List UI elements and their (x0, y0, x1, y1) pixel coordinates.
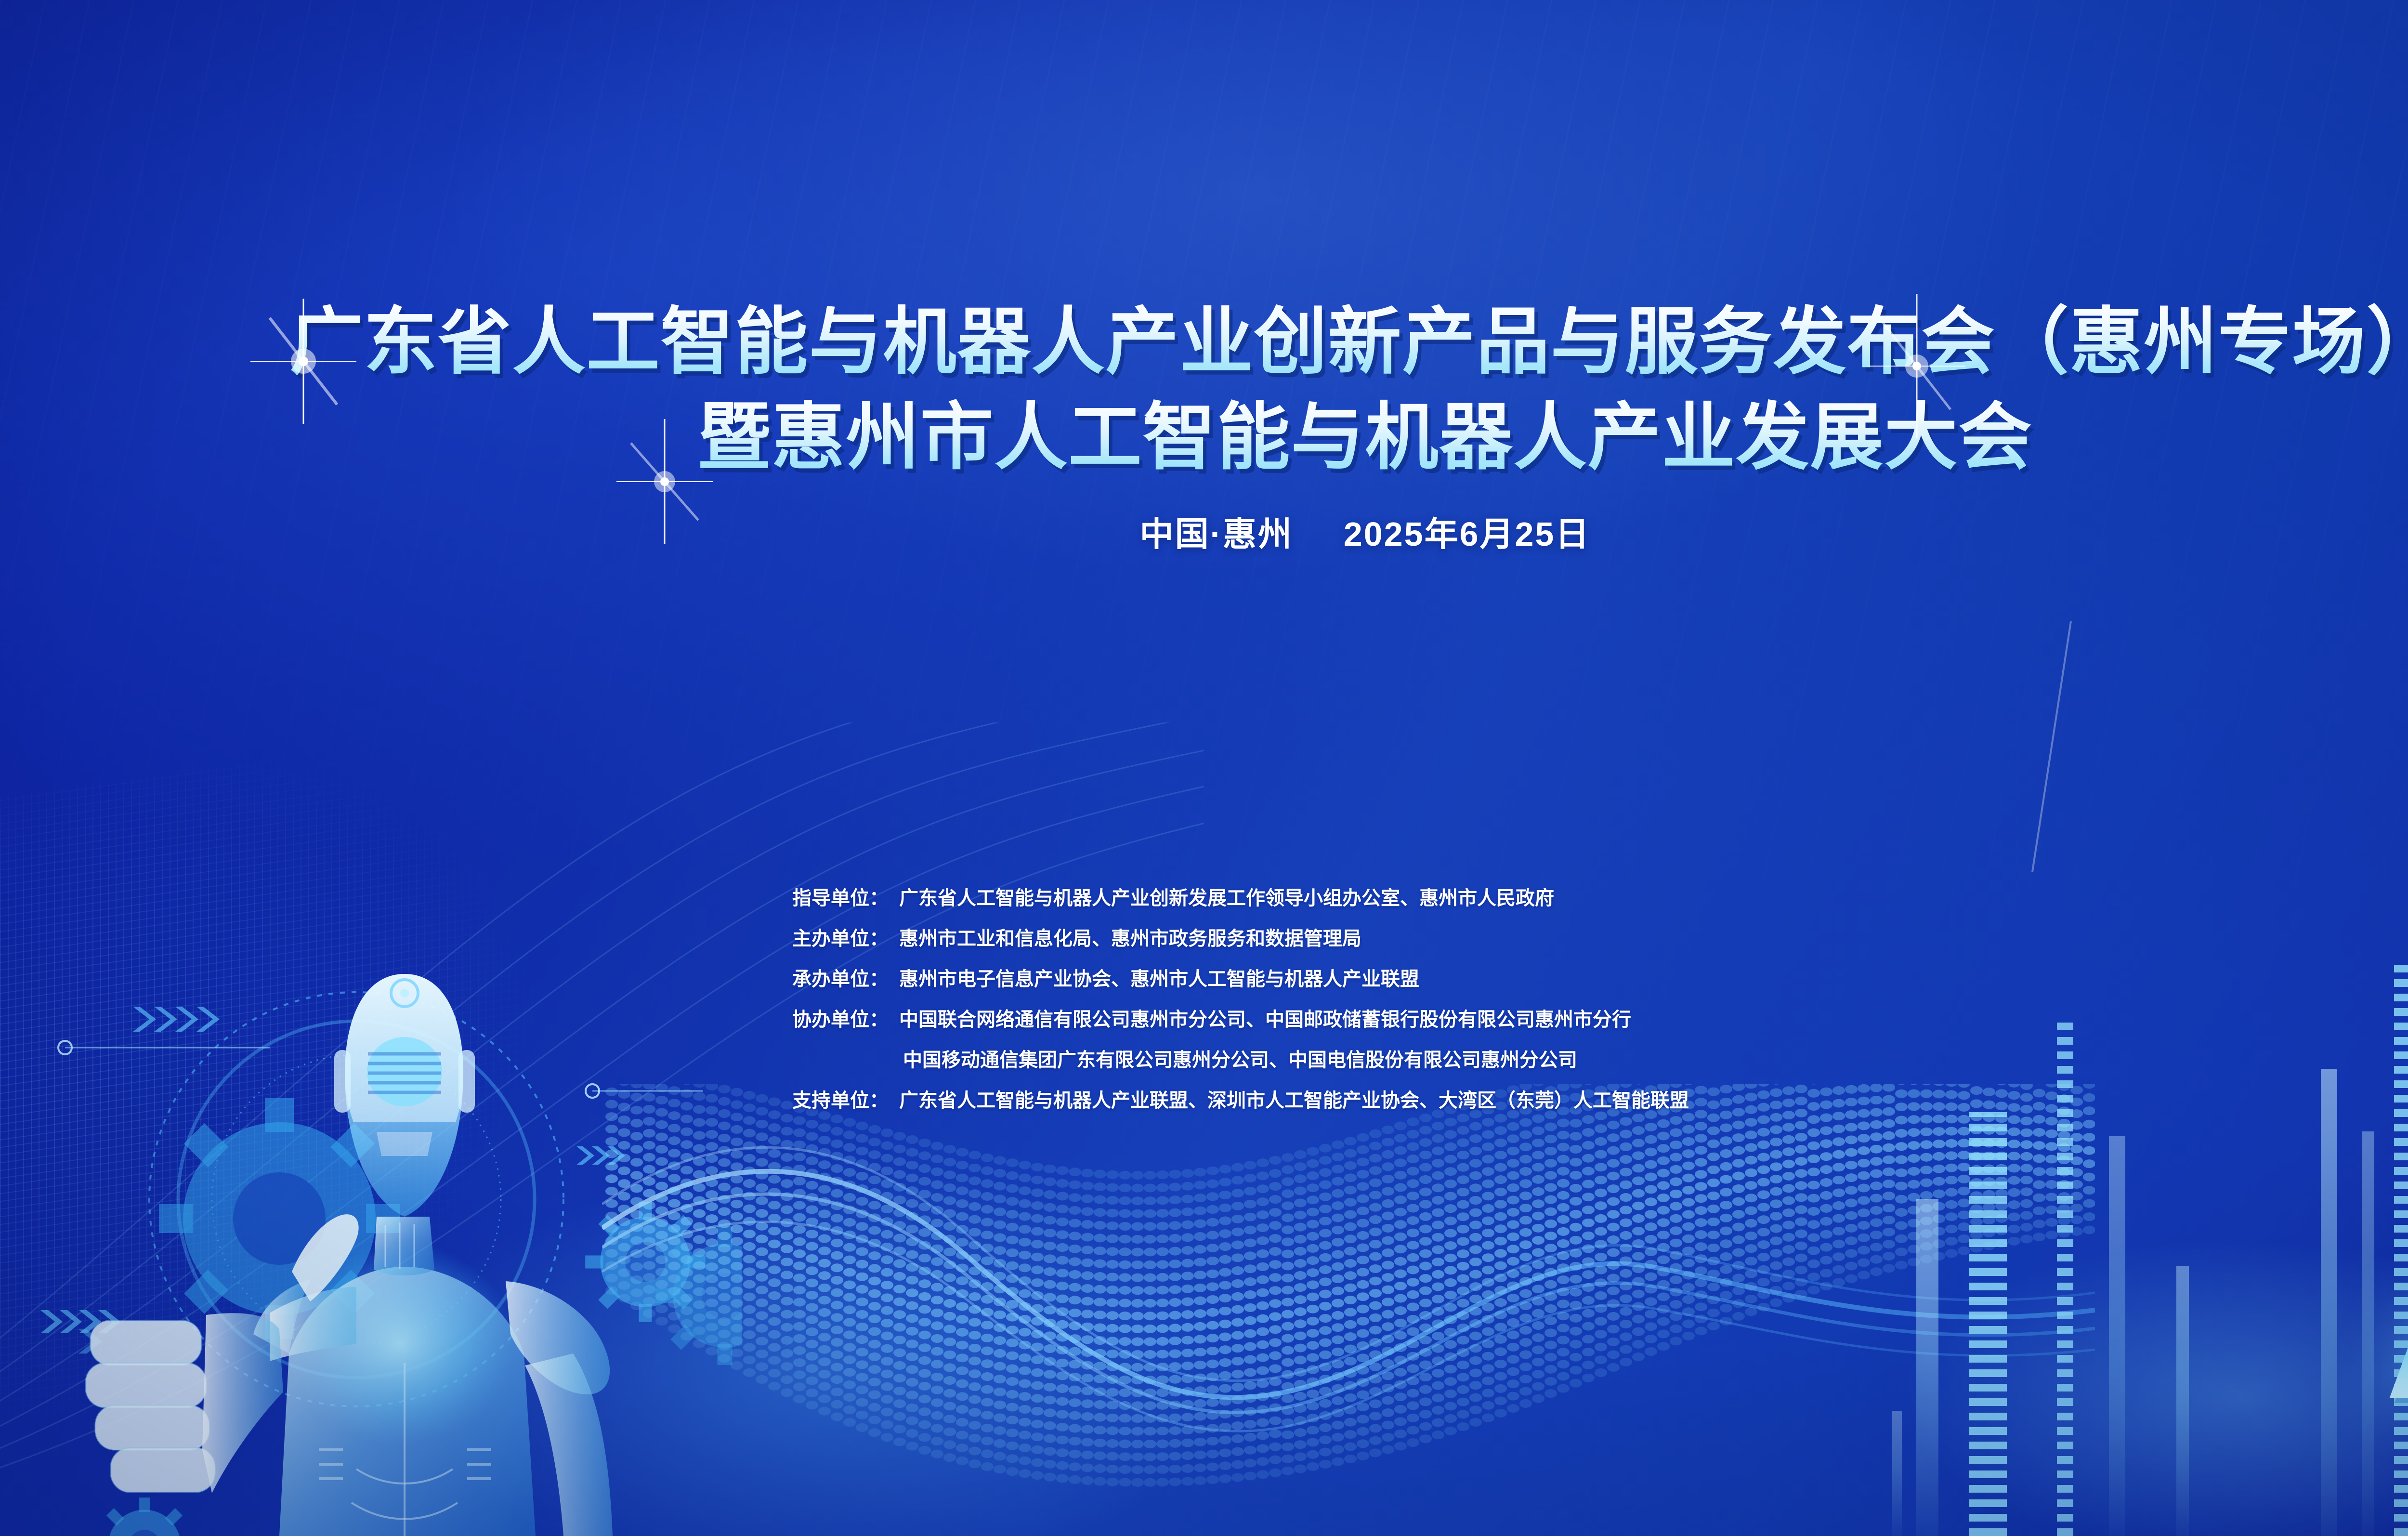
poster-canvas: AI 广东省人工智能与机器人产业创新产品与服务发布会（惠州专场） 暨惠州市人工智… (0, 0, 2408, 1536)
vignette-overlay (0, 0, 2408, 1536)
